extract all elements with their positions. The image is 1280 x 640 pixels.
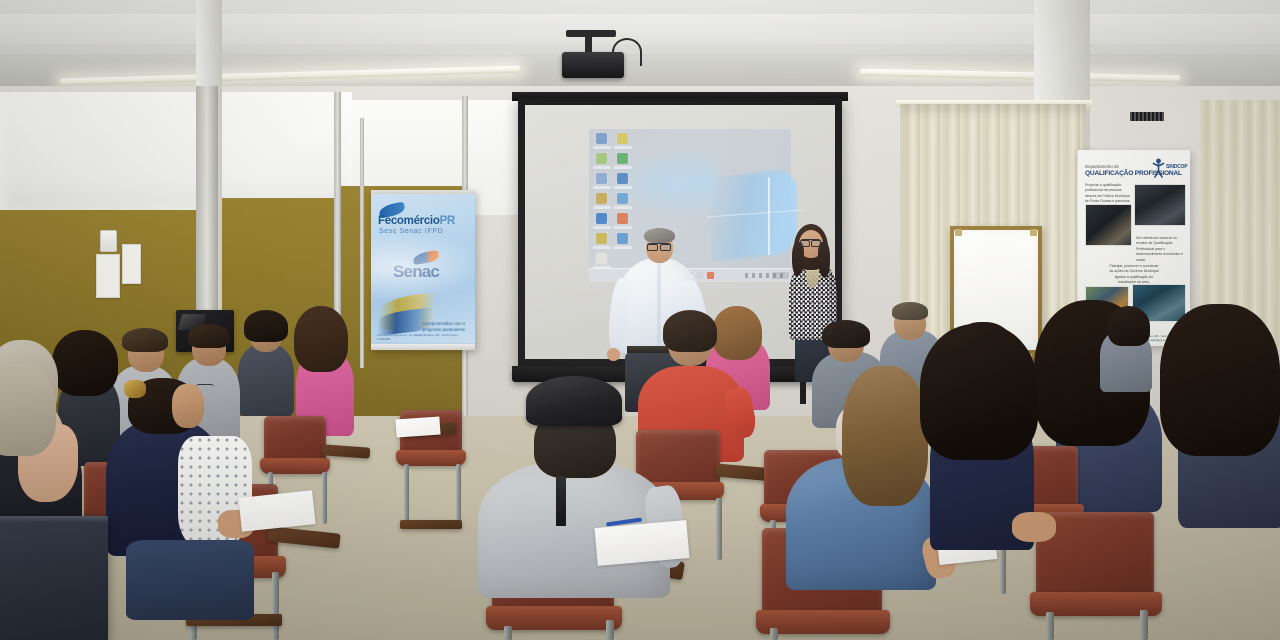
chair-under-shelf <box>400 520 462 529</box>
hair <box>712 306 762 360</box>
banner-top-rail <box>371 190 475 194</box>
ceiling-projector <box>562 52 624 78</box>
taskbar-clock[interactable] <box>772 272 789 279</box>
banner-paragraph-3: Planejar, promover e coordenar as ações … <box>1108 264 1160 286</box>
senac-wordmark: Senac <box>393 262 439 282</box>
hair <box>644 228 675 243</box>
notepad-paper <box>595 520 690 566</box>
hair <box>663 310 717 352</box>
banner-title: FecomércioPR <box>378 215 455 227</box>
torso <box>238 344 294 416</box>
hair <box>822 320 870 348</box>
banner-subtitle: Sesc Senac IFPD <box>379 228 443 235</box>
banner-paragraph-1: Propiciar a qualificação profissional de… <box>1085 183 1131 205</box>
hair <box>244 310 288 342</box>
banner-title-state: PR <box>440 215 455 227</box>
chair-backrest <box>636 430 720 484</box>
hair <box>920 324 1038 460</box>
desktop-icon[interactable] <box>596 153 607 164</box>
hair-strand <box>818 242 830 278</box>
baseball-cap <box>526 376 622 426</box>
desk-edge <box>0 516 108 522</box>
chair-leg <box>1046 612 1054 640</box>
notepad-paper <box>395 416 440 437</box>
hair-clip <box>124 380 146 398</box>
desktop-icon[interactable] <box>596 253 607 264</box>
eyeglasses-icon <box>800 239 821 245</box>
banner-dept-prefix: Departamento de <box>1085 164 1119 169</box>
desk <box>0 516 108 640</box>
chair-leg <box>504 626 512 640</box>
hair <box>1108 306 1150 346</box>
banner-tagline: Comprometidos com o progresso paranaense… <box>423 321 471 333</box>
desktop-icon-label <box>614 166 632 169</box>
light-switch[interactable] <box>100 230 117 252</box>
senac-wing-icon <box>412 250 439 265</box>
windows-logo-wallpaper <box>685 163 807 267</box>
flipchart-clip <box>955 229 962 236</box>
desktop-icon[interactable] <box>617 213 628 224</box>
banner-bottom-rail <box>371 344 475 350</box>
desktop-icon-label <box>593 246 611 249</box>
hair <box>842 366 928 506</box>
desktop-icon[interactable] <box>617 233 628 244</box>
chair-leg <box>716 498 722 560</box>
desktop-icon-label <box>593 206 611 209</box>
glass-partition-upper <box>0 92 352 214</box>
eyeglasses-icon <box>647 243 671 249</box>
hand <box>1012 512 1056 542</box>
projector-vents <box>1130 112 1164 121</box>
window-pane-divider <box>707 210 803 218</box>
hair <box>1160 304 1280 456</box>
screen-stand-pole <box>800 382 806 404</box>
desktop-icon[interactable] <box>596 233 607 244</box>
desktop-icon-label <box>614 226 632 229</box>
hair <box>294 306 348 372</box>
hair <box>122 328 168 352</box>
desktop-icon-label <box>614 146 632 149</box>
chair-leg <box>404 464 409 526</box>
desktop-icon[interactable] <box>596 193 607 204</box>
chair-backrest <box>264 416 326 460</box>
classroom-scene: FecomércioPR Sesc Senac IFPD Senac Compr… <box>0 0 1280 640</box>
posted-notice <box>122 244 141 284</box>
chair-leg <box>272 572 279 640</box>
banner-photo <box>1134 184 1186 226</box>
desktop-icon[interactable] <box>596 173 607 184</box>
desktop-icon[interactable] <box>617 173 628 184</box>
desktop-icon-label <box>593 186 611 189</box>
hand-left <box>607 348 620 361</box>
chair-leg <box>456 464 461 522</box>
hair <box>892 302 928 320</box>
hair <box>52 330 118 396</box>
jeans <box>126 540 254 620</box>
hair <box>0 364 56 456</box>
desktop-icon-label <box>614 246 632 249</box>
banner-paragraph-2: Ser referência nacional no modelo de Qua… <box>1136 236 1184 263</box>
banner-pole <box>360 118 364 368</box>
desktop-icon-label <box>614 206 632 209</box>
desktop-icon-grid[interactable] <box>593 133 635 265</box>
shirt-graphic <box>556 476 566 526</box>
window-pane-divider <box>768 177 770 255</box>
taskbar-item[interactable] <box>696 272 703 279</box>
desktop-icon[interactable] <box>617 153 628 164</box>
eyeglasses-icon <box>196 384 214 391</box>
banner-fecomercio: FecomércioPR Sesc Senac IFPD Senac Compr… <box>371 190 475 350</box>
chair-leg <box>322 472 327 524</box>
desktop-icon-label <box>593 166 611 169</box>
desktop-icon-label <box>593 226 611 229</box>
banner-photo <box>1085 204 1132 246</box>
banner-title-main: Fecomércio <box>378 215 440 227</box>
banner-dept-title: QUALIFICAÇÃO PROFISSIONAL <box>1085 170 1182 177</box>
hair <box>188 324 230 348</box>
desktop-icon[interactable] <box>596 213 607 224</box>
desktop-icon-label <box>593 146 611 149</box>
desktop-icon-label <box>614 186 632 189</box>
chair-leg <box>1140 610 1148 640</box>
flipchart-clip <box>1030 229 1037 236</box>
taskbar-item[interactable] <box>707 272 714 279</box>
shirt-placket <box>657 262 661 346</box>
posted-notice <box>96 254 120 298</box>
chair-leg <box>606 620 614 640</box>
chair-leg <box>770 628 778 640</box>
banner-footer: www.fecomerciopr.com.br · Av. Cândido de… <box>377 334 469 342</box>
desktop-icon[interactable] <box>617 193 628 204</box>
desktop-icon[interactable] <box>596 133 607 144</box>
desktop-icon[interactable] <box>617 133 628 144</box>
